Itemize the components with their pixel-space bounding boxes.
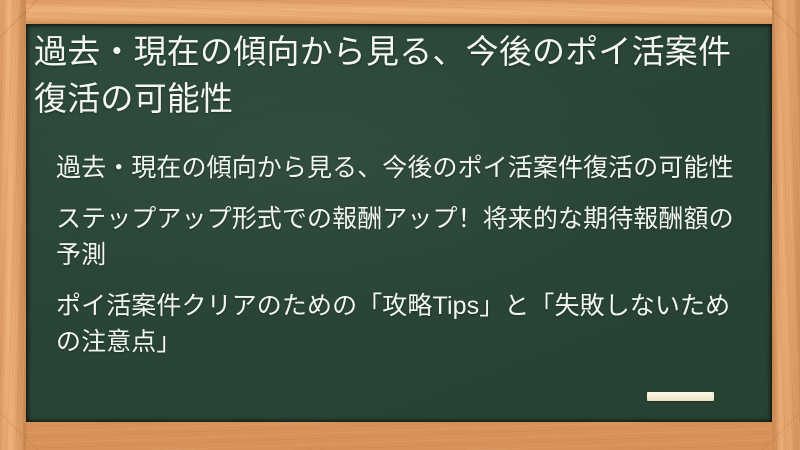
slide-bullet-list: 過去・現在の傾向から見る、今後のポイ活案件復活の可能性 ステップアップ形式での報… xyxy=(56,150,746,360)
slide-title: 過去・現在の傾向から見る、今後のポイ活案件復活の可能性 xyxy=(34,28,744,122)
chalkboard-slide: 過去・現在の傾向から見る、今後のポイ活案件復活の可能性 過去・現在の傾向から見る… xyxy=(0,0,800,450)
list-item: 過去・現在の傾向から見る、今後のポイ活案件復活の可能性 xyxy=(56,150,746,186)
list-item: ポイ活案件クリアのための「攻略Tips」と「失敗しないための注意点」 xyxy=(56,288,746,360)
chalk-stick-icon xyxy=(647,392,714,401)
list-item: ステップアップ形式での報酬アップ！将来的な期待報酬額の予測 xyxy=(56,201,746,273)
chalkboard-surface: 過去・現在の傾向から見る、今後のポイ活案件復活の可能性 過去・現在の傾向から見る… xyxy=(26,24,772,422)
